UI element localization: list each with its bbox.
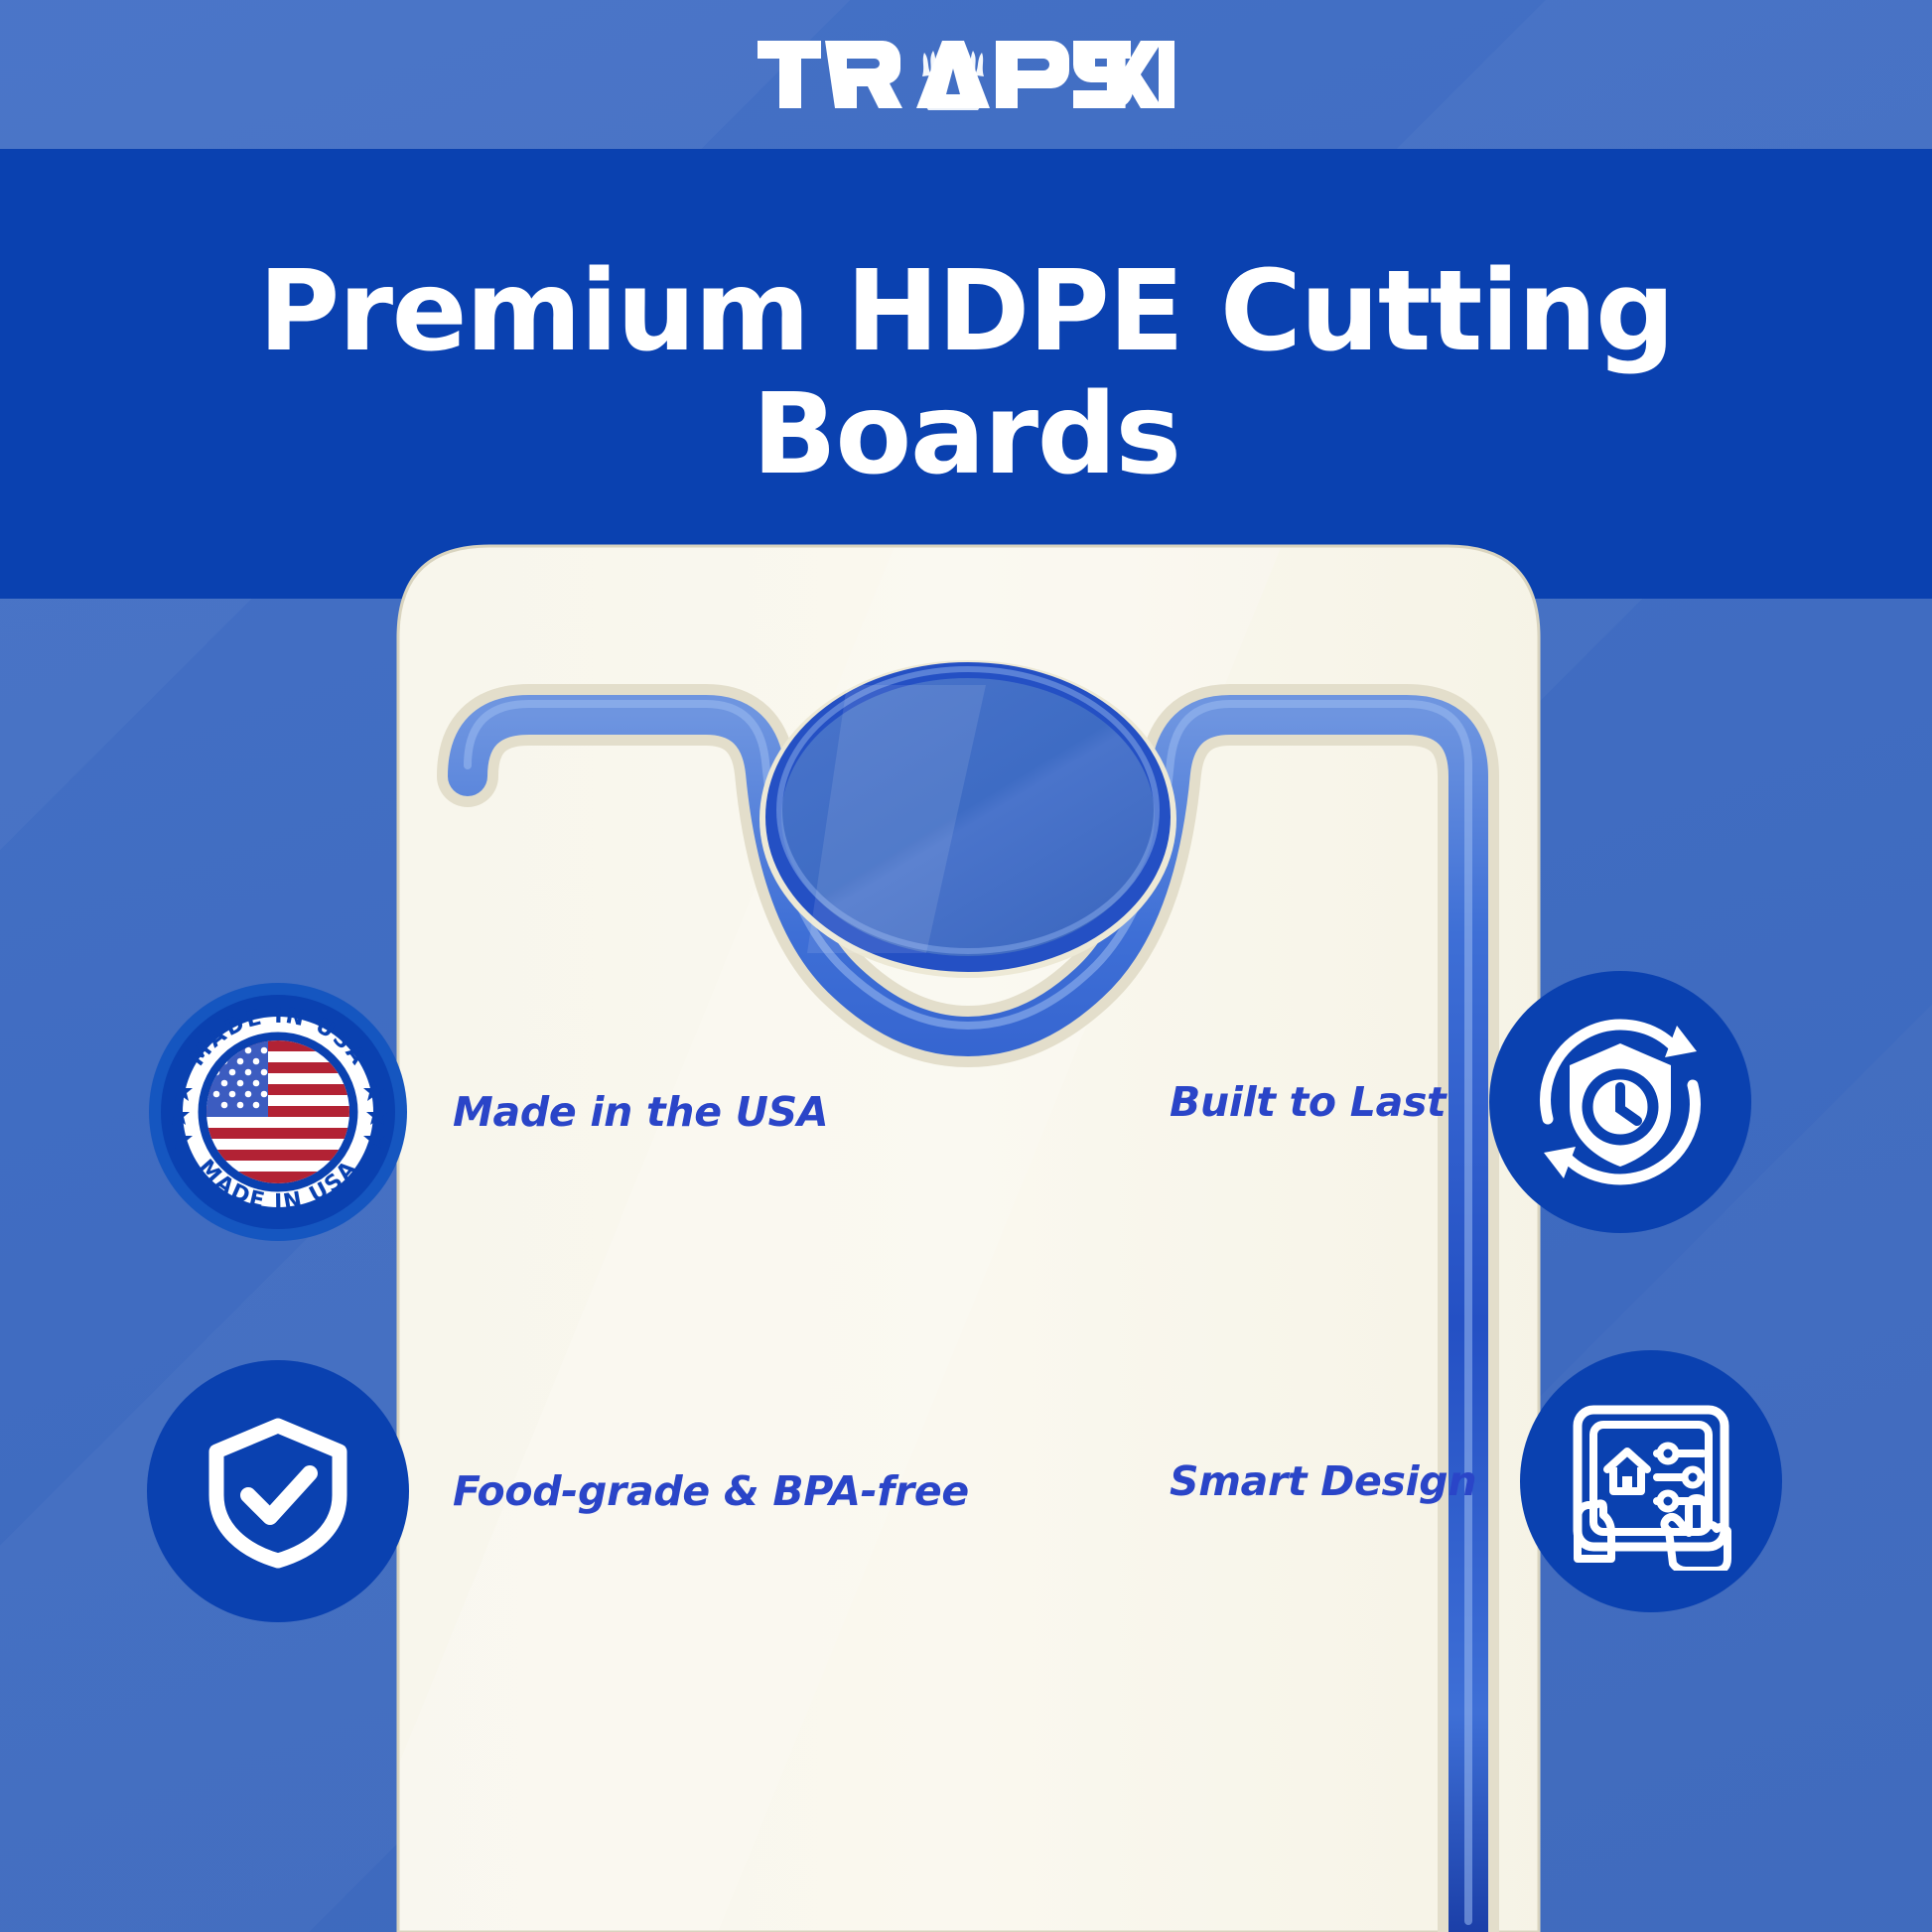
shield-check-slot (147, 1360, 409, 1622)
page-title: Premium HDPE Cutting Boards (231, 251, 1701, 495)
brand-bar (0, 0, 1932, 149)
shield-clock-circle (1489, 971, 1751, 1233)
tablet-smart-control-icon (1562, 1392, 1740, 1571)
feature-smart-design: Smart Design (1170, 1350, 1782, 1612)
shield-clock-refresh-icon (1526, 1008, 1715, 1196)
feature-label-food-grade: Food-grade & BPA-free (453, 1467, 969, 1515)
made-in-usa-badge-icon: MADE IN USA MADE IN USA (147, 981, 409, 1243)
trapski-logo (758, 39, 1174, 110)
feature-label-built-to-last: Built to Last (1170, 1078, 1446, 1126)
smart-control-slot (1520, 1350, 1782, 1612)
shield-check-icon (199, 1412, 357, 1571)
feature-food-grade: Food-grade & BPA-free (147, 1360, 969, 1622)
smart-control-circle (1520, 1350, 1782, 1612)
shield-clock-slot (1489, 971, 1751, 1233)
feature-label-smart-design: Smart Design (1170, 1457, 1476, 1505)
feature-label-made-in-usa: Made in the USA (453, 1088, 828, 1136)
feature-made-in-usa: MADE IN USA MADE IN USA Made in the USA (147, 981, 828, 1243)
feature-built-to-last: Built to Last (1170, 971, 1751, 1233)
made-in-usa-badge-slot: MADE IN USA MADE IN USA (147, 981, 409, 1243)
trapski-logo-svg (758, 37, 1174, 112)
infographic-page: Premium HDPE Cutting Boards (0, 0, 1932, 1932)
shield-check-circle (147, 1360, 409, 1622)
